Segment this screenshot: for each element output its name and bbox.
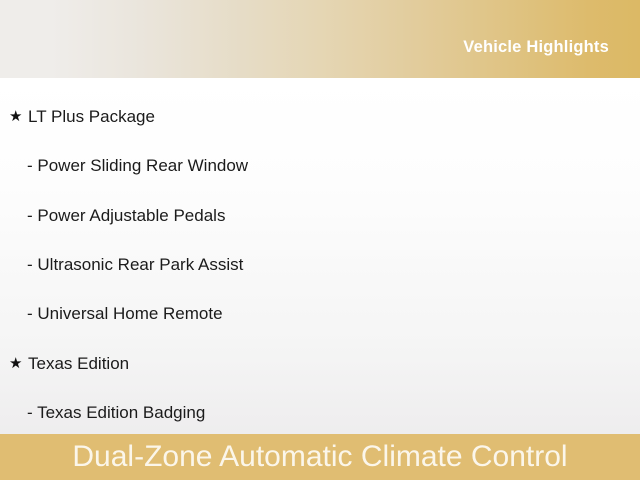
list-item: - Ultrasonic Rear Park Assist	[0, 240, 640, 289]
list-item: - Power Adjustable Pedals	[0, 191, 640, 240]
list-item-label: - Power Sliding Rear Window	[27, 157, 248, 174]
feature-list: ★ LT Plus Package - Power Sliding Rear W…	[0, 92, 640, 434]
list-item: - Power Sliding Rear Window	[0, 141, 640, 190]
header-banner: Vehicle Highlights	[0, 0, 640, 78]
list-item-label: - Power Adjustable Pedals	[27, 207, 225, 224]
list-item: ★ Texas Edition	[0, 338, 640, 387]
list-item-label: - Ultrasonic Rear Park Assist	[27, 256, 243, 273]
list-item: - Texas Edition Badging	[0, 388, 640, 434]
page-title: Vehicle Highlights	[463, 22, 640, 57]
star-icon: ★	[9, 109, 28, 124]
vehicle-highlights-slide: Vehicle Highlights ★ LT Plus Package - P…	[0, 0, 640, 480]
list-item-label: LT Plus Package	[28, 108, 155, 125]
list-item-label: Texas Edition	[28, 355, 129, 372]
star-icon: ★	[9, 356, 28, 371]
list-item: ★ LT Plus Package	[0, 92, 640, 141]
highlights-content: ★ LT Plus Package - Power Sliding Rear W…	[0, 78, 640, 434]
footer-banner: Dual-Zone Automatic Climate Control	[0, 434, 640, 480]
list-item-label: - Texas Edition Badging	[27, 404, 205, 421]
list-item-label: - Universal Home Remote	[27, 305, 223, 322]
list-item: - Universal Home Remote	[0, 289, 640, 338]
footer-caption: Dual-Zone Automatic Climate Control	[72, 442, 567, 472]
